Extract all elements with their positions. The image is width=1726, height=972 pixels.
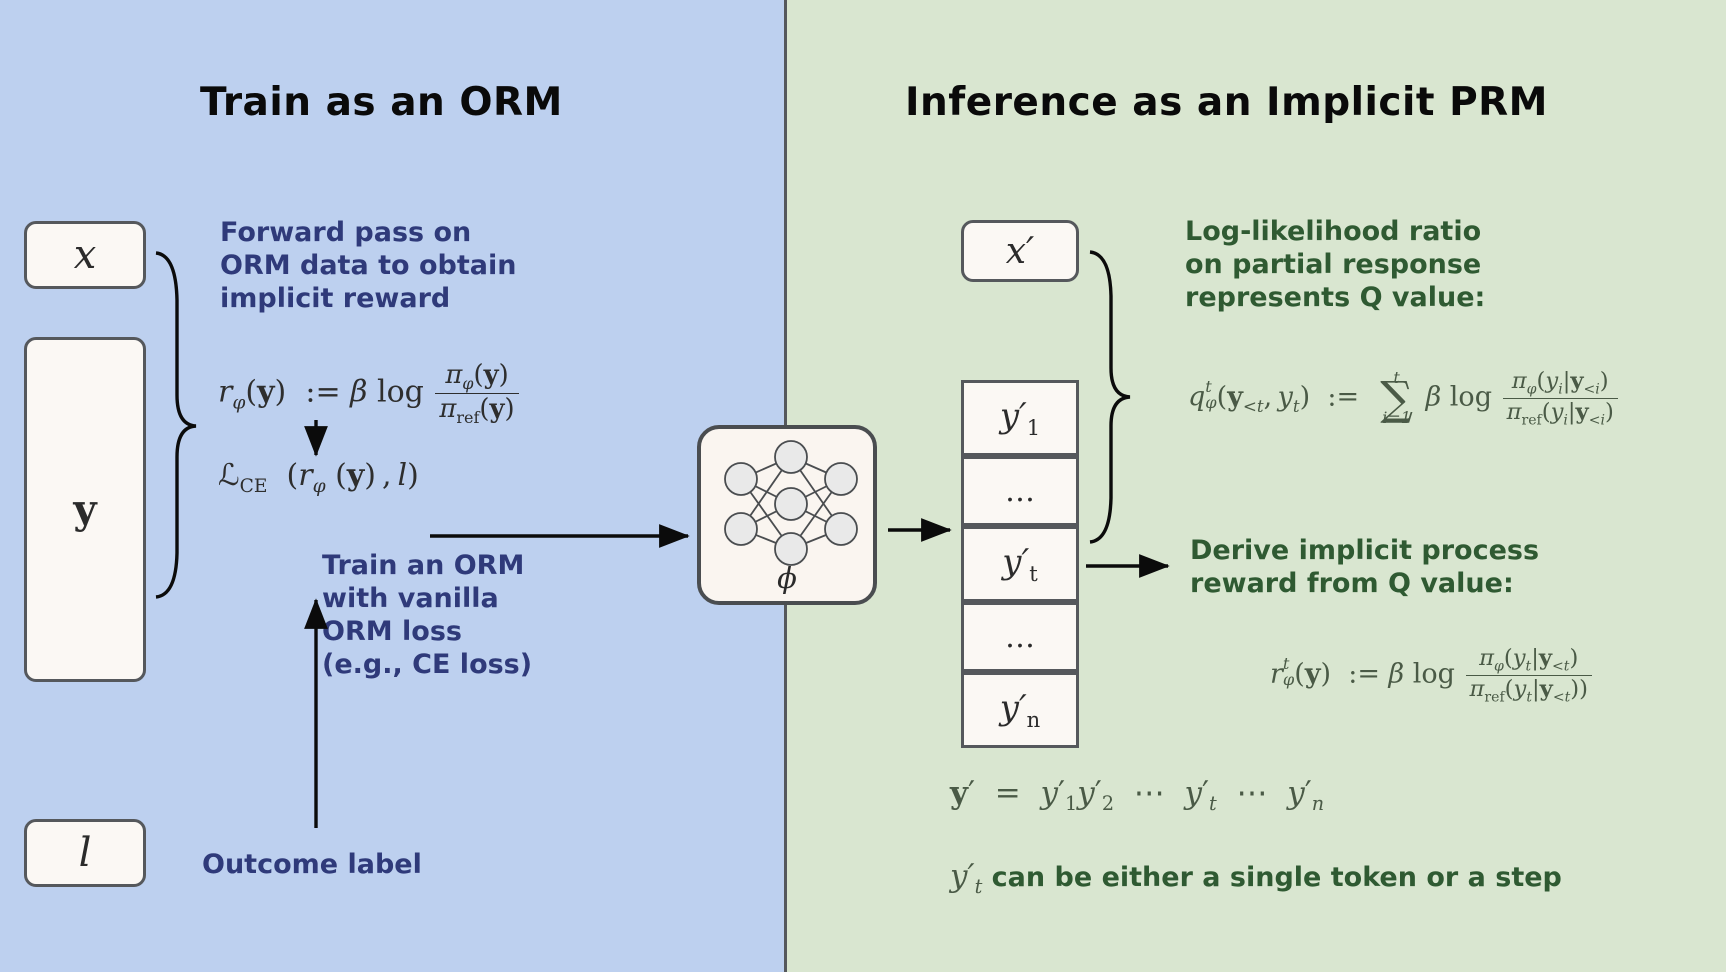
loglik-line-3-post: : [1475,282,1486,313]
train-orm-note: Train an ORM with vanilla ORM loss (e.g.… [322,550,532,682]
sequence-formula: y′ = y′1y′2 ⋯ y′t ⋯ y′n [950,775,1324,815]
outcome-l-label: l [79,830,92,876]
model-box: ϕ [697,425,877,605]
train-orm-line-2: with vanilla [322,583,532,616]
orm-data-strong: ORM data [220,250,369,281]
derive-note: Derive implicit process reward from Q va… [1190,535,1539,601]
diagram-canvas: Train as an ORM Inference as an Implicit… [0,0,1726,972]
inference-as-implicit-prm-panel [787,0,1726,972]
token-note-text: can be either a single token or a step [982,862,1562,893]
train-orm-strong-1: Train an ORM [322,550,524,581]
loglik-line-1: Log-likelihood ratio [1185,216,1485,249]
train-orm-line-4: (e.g., CE loss) [322,649,532,682]
train-orm-line-3: ORM loss [322,616,532,649]
input-x-prime-label: x′ [1006,231,1034,272]
right-panel-title: Inference as an Implicit PRM [905,80,1548,125]
input-y-box: y [24,337,146,682]
model-phi-label: ϕ [701,561,873,595]
loglik-line-3-pre: represents [1185,282,1360,313]
orm-loss-strong: ORM loss [322,616,462,647]
left-panel-title: Train as an ORM [200,80,563,125]
forward-pass-note: Forward pass on ORM data to obtain impli… [220,217,516,316]
loglik-line-2: on partial response [1185,249,1485,282]
forward-pass-line-3: implicit reward [220,283,516,316]
vanilla-strong: vanilla [398,583,499,614]
token-box-yt: y′t [961,526,1079,602]
q-value-strong: Q value [1360,282,1475,313]
token-label-yt: y′t [1002,542,1037,586]
derive-line-2-post: from Q value: [1297,568,1513,599]
forward-pass-line-2-rest: to obtain [369,250,517,281]
input-x-prime-box: x′ [961,220,1079,282]
token-box-y1: y′1 [961,380,1079,456]
input-y-label: y [73,486,96,533]
derive-line-2: reward from Q value: [1190,568,1539,601]
derive-line-1: Derive implicit process [1190,535,1539,568]
train-orm-line-2-pre: with [322,583,398,614]
neural-network-icon [701,429,881,579]
input-x-box: x [24,221,146,289]
ce-loss-formula: ℒCE (rφ (y) , l) [218,458,419,497]
token-label-y1: y′1 [1000,396,1040,440]
forward-pass-line-1: Forward pass on [220,217,516,250]
derive-line-1-pre: Derive [1190,535,1299,566]
outcome-label-note: Outcome label [202,849,422,882]
reward-strong: reward [1190,568,1297,599]
token-box-ellipsis-2: … [961,602,1079,672]
token-note: y′t can be either a single token or a st… [950,858,1562,898]
token-box-ellipsis-1: … [961,456,1079,526]
train-orm-line-1: Train an ORM [322,550,532,583]
process-reward-formula: r t φ (y) := β log πφ(yt|y<t) πref(yt|y<… [1270,645,1594,705]
loglik-line-3: represents Q value: [1185,282,1485,315]
input-x-label: x [74,232,97,278]
forward-pass-line-2: ORM data to obtain [220,250,516,283]
loglik-note: Log-likelihood ratio on partial response… [1185,216,1485,315]
token-note-symbol: y′t [950,858,982,894]
token-label-yn: y′n [1000,688,1041,732]
implicit-process-strong: implicit process [1299,535,1539,566]
token-label-ellipsis-2: … [1005,620,1035,655]
implicit-reward-formula: rφ(y) := β log πφ(y) πref(y) [218,360,521,427]
token-label-ellipsis-1: … [1005,474,1035,509]
outcome-label-box: l [24,819,146,887]
token-box-yn: y′n [961,672,1079,748]
q-value-formula: q t φ (y<t, yt) := ∑ti=1 β log πφ(yi|y<i… [1188,368,1620,428]
